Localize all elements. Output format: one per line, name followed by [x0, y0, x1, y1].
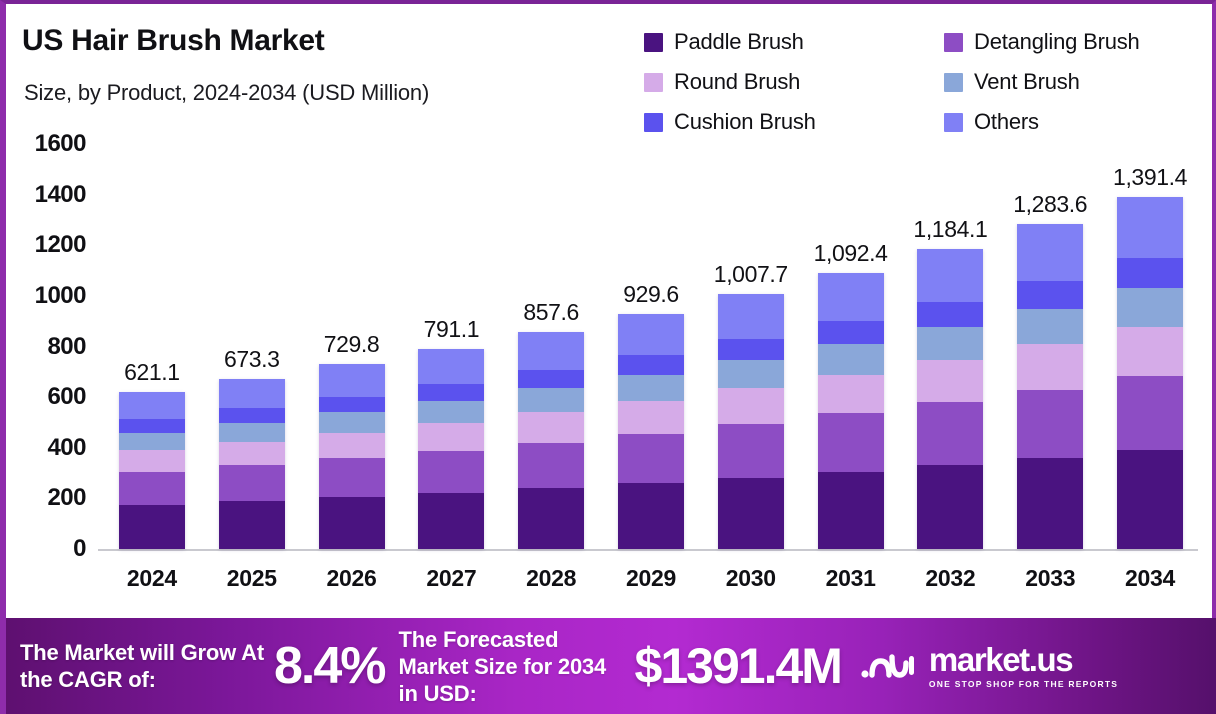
bar-segment-round-brush[interactable]: [518, 412, 584, 442]
bar-segment-paddle-brush[interactable]: [319, 497, 385, 549]
bar-segment-round-brush[interactable]: [418, 423, 484, 451]
bar-segment-others[interactable]: [119, 392, 185, 420]
bar-segment-cushion-brush[interactable]: [618, 355, 684, 375]
bar-total-label: 1,007.7: [714, 261, 788, 288]
bar-column-2029[interactable]: 929.6: [601, 144, 701, 549]
bar-segment-detangling-brush[interactable]: [1117, 376, 1183, 450]
bar-column-2034[interactable]: 1,391.4: [1100, 144, 1200, 549]
x-axis-tick-2034: 2034: [1100, 556, 1200, 606]
bar-column-2033[interactable]: 1,283.6: [1000, 144, 1100, 549]
bar-column-2030[interactable]: 1,007.7: [701, 144, 801, 549]
legend-label: Paddle Brush: [674, 29, 804, 55]
x-axis-tick-2029: 2029: [601, 556, 701, 606]
bar-series-container: 621.1673.3729.8791.1857.6929.61,007.71,0…: [102, 144, 1200, 549]
bar-total-label: 1,391.4: [1113, 164, 1187, 191]
legend-label: Vent Brush: [974, 69, 1080, 95]
bar-segment-round-brush[interactable]: [718, 388, 784, 424]
bar-stack[interactable]: [518, 332, 584, 549]
legend-swatch-icon: [944, 113, 963, 132]
bar-segment-paddle-brush[interactable]: [418, 493, 484, 549]
bar-segment-vent-brush[interactable]: [618, 375, 684, 401]
legend-swatch-icon: [944, 73, 963, 92]
cagr-value: 8.4%: [274, 636, 385, 696]
bar-stack[interactable]: [718, 294, 784, 549]
legend-item-detangling-brush[interactable]: Detangling Brush: [944, 29, 1204, 55]
legend-label: Others: [974, 109, 1039, 135]
bar-segment-others[interactable]: [1117, 197, 1183, 259]
legend-label: Cushion Brush: [674, 109, 816, 135]
bar-segment-vent-brush[interactable]: [518, 388, 584, 412]
bar-segment-paddle-brush[interactable]: [119, 505, 185, 549]
x-axis-tick-2033: 2033: [1000, 556, 1100, 606]
bar-segment-others[interactable]: [818, 273, 884, 321]
bar-segment-round-brush[interactable]: [1017, 344, 1083, 389]
bar-segment-paddle-brush[interactable]: [219, 501, 285, 549]
x-axis-tick-2028: 2028: [501, 556, 601, 606]
legend-swatch-icon: [644, 73, 663, 92]
chart-legend: Paddle BrushDetangling BrushRound BrushV…: [644, 22, 1204, 142]
y-axis-tick: 600: [47, 383, 86, 411]
bar-total-label: 1,092.4: [814, 240, 888, 267]
forecast-value: $1391.4M: [635, 637, 841, 695]
bar-total-label: 929.6: [623, 281, 679, 308]
infographic-frame: US Hair Brush Market Size, by Product, 2…: [0, 0, 1216, 714]
bar-segment-round-brush[interactable]: [917, 360, 983, 402]
brand-text: market.us ONE STOP SHOP FOR THE REPORTS: [929, 643, 1118, 690]
bar-column-2025[interactable]: 673.3: [202, 144, 302, 549]
bar-segment-round-brush[interactable]: [618, 401, 684, 434]
x-axis-tick-2030: 2030: [701, 556, 801, 606]
bar-segment-round-brush[interactable]: [1117, 327, 1183, 376]
bar-segment-vent-brush[interactable]: [818, 344, 884, 374]
chart-header: US Hair Brush Market Size, by Product, 2…: [6, 4, 1212, 144]
bar-total-label: 673.3: [224, 346, 280, 373]
bar-segment-vent-brush[interactable]: [319, 412, 385, 432]
y-axis-tick: 400: [47, 434, 86, 462]
bar-stack[interactable]: [119, 392, 185, 549]
bar-segment-detangling-brush[interactable]: [418, 451, 484, 493]
bar-stack[interactable]: [1017, 224, 1083, 549]
bar-segment-round-brush[interactable]: [119, 450, 185, 472]
bar-segment-others[interactable]: [319, 364, 385, 396]
chart-plot-area: 02004006008001000120014001600 621.1673.3…: [6, 144, 1216, 614]
bar-segment-cushion-brush[interactable]: [818, 321, 884, 345]
bar-column-2031[interactable]: 1,092.4: [801, 144, 901, 549]
bar-segment-paddle-brush[interactable]: [718, 478, 784, 549]
bar-stack[interactable]: [1117, 197, 1183, 549]
bar-column-2028[interactable]: 857.6: [501, 144, 601, 549]
bar-column-2027[interactable]: 791.1: [401, 144, 501, 549]
cagr-label: The Market will Grow At the CAGR of:: [20, 639, 278, 693]
bar-segment-others[interactable]: [219, 379, 285, 409]
bar-stack[interactable]: [917, 249, 983, 549]
legend-swatch-icon: [644, 113, 663, 132]
y-axis-tick: 1000: [35, 282, 86, 310]
footer-banner: The Market will Grow At the CAGR of: 8.4…: [6, 618, 1216, 714]
bar-segment-detangling-brush[interactable]: [917, 402, 983, 465]
bar-segment-detangling-brush[interactable]: [518, 443, 584, 489]
y-axis: 02004006008001000120014001600: [6, 144, 96, 550]
x-axis-tick-2031: 2031: [801, 556, 901, 606]
legend-swatch-icon: [944, 33, 963, 52]
bar-segment-cushion-brush[interactable]: [418, 384, 484, 401]
bar-total-label: 621.1: [124, 359, 180, 386]
bar-total-label: 729.8: [324, 331, 380, 358]
bar-segment-cushion-brush[interactable]: [119, 419, 185, 432]
bar-segment-cushion-brush[interactable]: [917, 302, 983, 327]
y-axis-tick: 1200: [35, 231, 86, 259]
bar-segment-detangling-brush[interactable]: [618, 434, 684, 483]
bar-segment-vent-brush[interactable]: [418, 401, 484, 423]
x-axis-tick-2027: 2027: [401, 556, 501, 606]
bar-column-2032[interactable]: 1,184.1: [901, 144, 1001, 549]
bar-segment-detangling-brush[interactable]: [1017, 390, 1083, 458]
legend-swatch-icon: [644, 33, 663, 52]
brand-logo[interactable]: market.us ONE STOP SHOP FOR THE REPORTS: [859, 643, 1118, 690]
y-axis-tick: 1600: [35, 130, 86, 158]
bar-segment-vent-brush[interactable]: [1117, 288, 1183, 327]
bar-segment-vent-brush[interactable]: [1017, 309, 1083, 345]
forecast-label: The Forecasted Market Size for 2034 in U…: [399, 626, 629, 707]
bar-segment-cushion-brush[interactable]: [518, 370, 584, 388]
page-subtitle: Size, by Product, 2024-2034 (USD Million…: [24, 80, 429, 106]
bar-segment-round-brush[interactable]: [818, 375, 884, 414]
bar-stack[interactable]: [818, 273, 884, 550]
brand-tagline: ONE STOP SHOP FOR THE REPORTS: [929, 678, 1118, 690]
x-axis-tick-2025: 2025: [202, 556, 302, 606]
bar-segment-paddle-brush[interactable]: [1117, 450, 1183, 549]
legend-label: Detangling Brush: [974, 29, 1140, 55]
bar-stack[interactable]: [418, 349, 484, 549]
bar-stack[interactable]: [618, 314, 684, 549]
bar-column-2024[interactable]: 621.1: [102, 144, 202, 549]
y-axis-tick: 200: [47, 484, 86, 512]
y-axis-tick: 800: [47, 333, 86, 361]
legend-item-round-brush[interactable]: Round Brush: [644, 69, 944, 95]
bar-segment-others[interactable]: [618, 314, 684, 355]
bar-segment-round-brush[interactable]: [219, 442, 285, 466]
bar-segment-vent-brush[interactable]: [119, 433, 185, 450]
bar-total-label: 1,283.6: [1013, 191, 1087, 218]
x-axis-line: [98, 549, 1198, 551]
bar-total-label: 1,184.1: [913, 216, 987, 243]
x-axis-tick-2026: 2026: [302, 556, 402, 606]
page-title: US Hair Brush Market: [22, 24, 324, 58]
legend-item-paddle-brush[interactable]: Paddle Brush: [644, 29, 944, 55]
x-axis-tick-2032: 2032: [901, 556, 1001, 606]
y-axis-tick: 0: [73, 535, 86, 563]
bar-segment-others[interactable]: [917, 249, 983, 301]
bar-total-label: 791.1: [424, 316, 480, 343]
market-us-logo-icon: [859, 644, 919, 689]
bar-column-2026[interactable]: 729.8: [302, 144, 402, 549]
brand-name: market.us: [929, 643, 1118, 676]
bar-stack[interactable]: [319, 364, 385, 549]
bar-segment-paddle-brush[interactable]: [917, 465, 983, 549]
x-axis-tick-2024: 2024: [102, 556, 202, 606]
bar-segment-others[interactable]: [518, 332, 584, 370]
bar-segment-cushion-brush[interactable]: [718, 339, 784, 361]
bar-segment-detangling-brush[interactable]: [219, 465, 285, 501]
legend-item-others[interactable]: Others: [944, 109, 1204, 135]
legend-label: Round Brush: [674, 69, 800, 95]
legend-item-vent-brush[interactable]: Vent Brush: [944, 69, 1204, 95]
bar-segment-detangling-brush[interactable]: [818, 413, 884, 471]
bar-segment-vent-brush[interactable]: [718, 360, 784, 388]
bar-segment-detangling-brush[interactable]: [718, 424, 784, 478]
legend-item-cushion-brush[interactable]: Cushion Brush: [644, 109, 944, 135]
bar-segment-detangling-brush[interactable]: [119, 472, 185, 505]
bar-segment-cushion-brush[interactable]: [1017, 281, 1083, 309]
bar-segment-others[interactable]: [718, 294, 784, 339]
bar-segment-detangling-brush[interactable]: [319, 458, 385, 497]
bar-segment-round-brush[interactable]: [319, 433, 385, 459]
bar-total-label: 857.6: [523, 299, 579, 326]
bar-segment-cushion-brush[interactable]: [1117, 258, 1183, 288]
bar-segment-paddle-brush[interactable]: [1017, 458, 1083, 549]
bar-stack[interactable]: [219, 379, 285, 549]
bar-segment-paddle-brush[interactable]: [518, 488, 584, 549]
bar-segment-vent-brush[interactable]: [917, 327, 983, 360]
bar-segment-vent-brush[interactable]: [219, 423, 285, 442]
bar-segment-paddle-brush[interactable]: [818, 472, 884, 549]
bar-segment-others[interactable]: [1017, 224, 1083, 281]
x-axis: 2024202520262027202820292030203120322033…: [102, 556, 1200, 606]
bar-segment-cushion-brush[interactable]: [319, 397, 385, 413]
y-axis-tick: 1400: [35, 181, 86, 209]
bar-segment-others[interactable]: [418, 349, 484, 384]
bar-segment-cushion-brush[interactable]: [219, 408, 285, 422]
bar-segment-paddle-brush[interactable]: [618, 483, 684, 549]
